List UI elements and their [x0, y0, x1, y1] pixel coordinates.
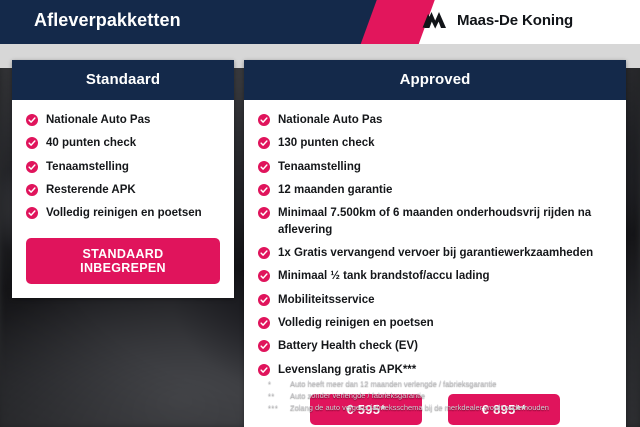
check-circle-icon — [258, 161, 270, 173]
check-circle-icon — [26, 207, 38, 219]
feature-label: 130 punten check — [278, 135, 375, 151]
list-item: Nationale Auto Pas — [26, 112, 220, 128]
card-standaard-body: Nationale Auto Pas 40 punten check Tenaa… — [12, 100, 234, 298]
list-item: Nationale Auto Pas — [258, 112, 612, 128]
card-approved-heading: Approved — [244, 60, 626, 100]
card-standaard: Standaard Nationale Auto Pas 40 punten c… — [12, 60, 234, 298]
list-item: Volledig reinigen en poetsen — [26, 205, 220, 221]
footnote-text: Auto zonder verlengde / fabrieksgarantie — [290, 391, 628, 402]
feature-label: Nationale Auto Pas — [46, 112, 150, 128]
list-item: 12 maanden garantie — [258, 182, 612, 198]
list-item: 40 punten check — [26, 135, 220, 151]
check-circle-icon — [26, 184, 38, 196]
feature-label: Minimaal ½ tank brandstof/accu lading — [278, 268, 490, 284]
page-title: Afleverpakketten — [34, 10, 181, 31]
list-item: Mobiliteitsservice — [258, 292, 612, 308]
feature-label: Mobiliteitsservice — [278, 292, 375, 308]
footnote-2: ** Auto zonder verlengde / fabrieksgaran… — [268, 391, 628, 402]
brand-logo[interactable]: Maas-De Koning — [422, 10, 573, 30]
feature-label: Tenaamstelling — [278, 159, 361, 175]
feature-label: Battery Health check (EV) — [278, 338, 418, 354]
list-item: Minimaal ½ tank brandstof/accu lading — [258, 268, 612, 284]
check-circle-icon — [258, 184, 270, 196]
check-circle-icon — [258, 294, 270, 306]
card-approved-body: Nationale Auto Pas 130 punten check Tena… — [244, 100, 626, 427]
feature-label: Volledig reinigen en poetsen — [46, 205, 202, 221]
feature-list-standaard: Nationale Auto Pas 40 punten check Tenaa… — [26, 112, 220, 222]
feature-label: Resterende APK — [46, 182, 136, 198]
list-item: Tenaamstelling — [258, 159, 612, 175]
list-item: 130 punten check — [258, 135, 612, 151]
check-circle-icon — [26, 114, 38, 126]
list-item: Minimaal 7.500km of 6 maanden onderhouds… — [258, 205, 612, 238]
list-item: Battery Health check (EV) — [258, 338, 612, 354]
footnote-marker: * — [268, 379, 290, 390]
feature-label: Nationale Auto Pas — [278, 112, 382, 128]
check-circle-icon — [258, 207, 270, 219]
card-standaard-heading: Standaard — [12, 60, 234, 100]
footnotes: * Auto heeft meer dan 12 maanden verleng… — [268, 379, 628, 415]
footnote-text: Zolang de auto volgens fabrieksschema bi… — [290, 403, 628, 414]
check-circle-icon — [26, 137, 38, 149]
feature-label: 12 maanden garantie — [278, 182, 392, 198]
check-circle-icon — [258, 247, 270, 259]
feature-label: 1x Gratis vervangend vervoer bij garanti… — [278, 245, 593, 261]
check-circle-icon — [258, 114, 270, 126]
footnote-3: *** Zolang de auto volgens fabrieksschem… — [268, 403, 628, 414]
list-item: Tenaamstelling — [26, 159, 220, 175]
brand-name: Maas-De Koning — [457, 12, 573, 29]
check-circle-icon — [258, 364, 270, 376]
check-circle-icon — [26, 161, 38, 173]
footnote-1: * Auto heeft meer dan 12 maanden verleng… — [268, 379, 628, 390]
feature-label: Levenslang gratis APK*** — [278, 362, 416, 378]
check-circle-icon — [258, 340, 270, 352]
check-circle-icon — [258, 137, 270, 149]
top-bar: Afleverpakketten Maas-De Koning — [0, 0, 640, 44]
list-item: 1x Gratis vervangend vervoer bij garanti… — [258, 245, 612, 261]
feature-list-approved: Nationale Auto Pas 130 punten check Tena… — [258, 112, 612, 378]
standaard-inbegrepen-button[interactable]: STANDAARD INBEGREPEN — [26, 238, 220, 284]
footnote-text: Auto heeft meer dan 12 maanden verlengde… — [290, 379, 628, 390]
feature-label: 40 punten check — [46, 135, 136, 151]
footnote-marker: ** — [268, 391, 290, 402]
feature-label: Tenaamstelling — [46, 159, 129, 175]
card-approved: Approved Nationale Auto Pas 130 punten c… — [244, 60, 626, 427]
feature-label: Volledig reinigen en poetsen — [278, 315, 434, 331]
check-circle-icon — [258, 317, 270, 329]
footnote-marker: *** — [268, 403, 290, 414]
maas-de-koning-logo-mark-icon — [422, 10, 448, 30]
promo-banner: Afleverpakketten Maas-De Koning Standaar… — [0, 0, 640, 427]
list-item: Levenslang gratis APK*** — [258, 362, 612, 378]
feature-label: Minimaal 7.500km of 6 maanden onderhouds… — [278, 205, 608, 238]
list-item: Volledig reinigen en poetsen — [258, 315, 612, 331]
check-circle-icon — [258, 270, 270, 282]
list-item: Resterende APK — [26, 182, 220, 198]
